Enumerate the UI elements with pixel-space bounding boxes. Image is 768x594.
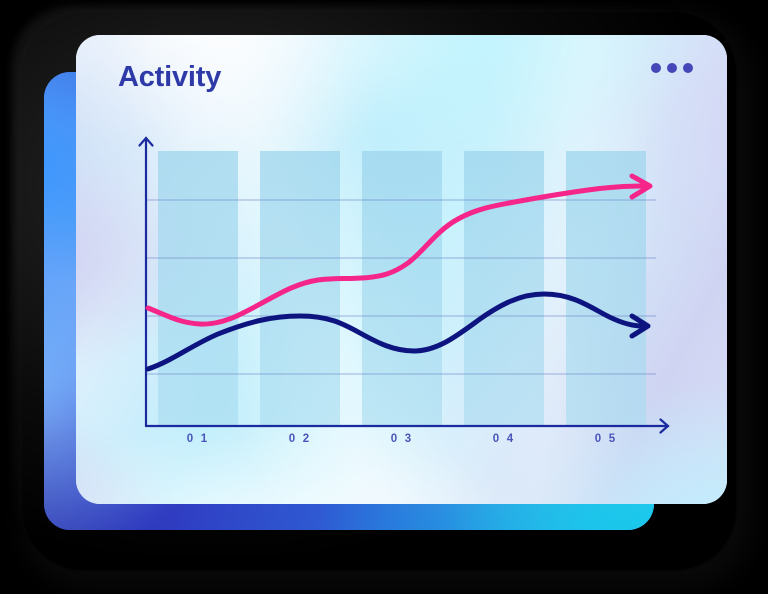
card-content: Activity bbox=[76, 35, 727, 504]
activity-card: Activity bbox=[76, 35, 727, 504]
screenshot-stage: Activity bbox=[0, 0, 768, 594]
chart-band bbox=[464, 151, 544, 426]
chart-band bbox=[158, 151, 238, 426]
activity-line-chart: 0 1 0 2 0 3 0 4 0 5 bbox=[76, 35, 727, 504]
chart-band bbox=[362, 151, 442, 426]
chart-svg bbox=[76, 35, 727, 504]
chart-band bbox=[260, 151, 340, 426]
